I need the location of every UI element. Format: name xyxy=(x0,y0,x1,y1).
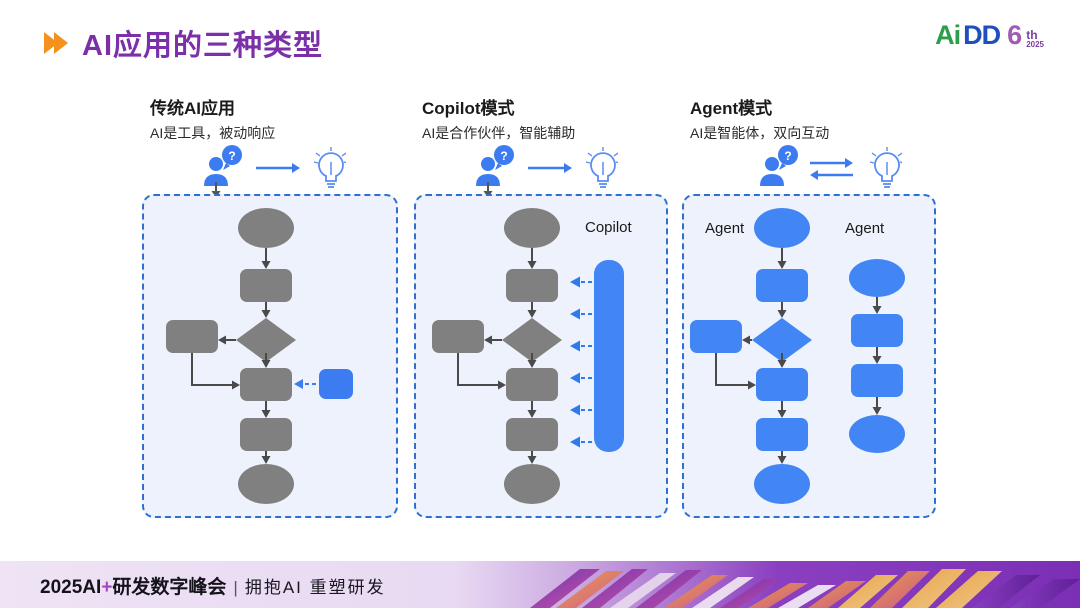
column-title: Agent模式 xyxy=(690,94,982,119)
footer-bar: 2025AI+研发数字峰会 | 拥抱AI 重塑研发 xyxy=(0,561,1080,608)
arrow-bidirectional-icon xyxy=(810,158,853,180)
footer-brand: 2025AI+研发数字峰会 | 拥抱AI 重塑研发 xyxy=(40,572,386,599)
flowchart-gray xyxy=(166,208,296,504)
double-triangle-icon xyxy=(44,32,68,54)
column-subtitle: AI是智能体，双向互动 xyxy=(690,123,982,143)
footer-brand-rest: 研发数字峰会 xyxy=(112,572,226,599)
logo-year-text: 2025 xyxy=(1026,41,1044,49)
copilot-label: Copilot xyxy=(585,219,632,236)
agent-label-right: Agent xyxy=(845,220,884,237)
column-subtitle: AI是合作伙伴，智能辅助 xyxy=(422,123,714,143)
panel-agent xyxy=(682,194,936,518)
svg-text:?: ? xyxy=(228,149,235,163)
column-title: Copilot模式 xyxy=(422,94,714,119)
column-title: 传统AI应用 xyxy=(150,94,442,119)
logo-six-text: 6 xyxy=(1007,22,1022,49)
copilot-assist-arrows xyxy=(579,282,592,442)
column-heading-copilot: Copilot模式 AI是合作伙伴，智能辅助 xyxy=(414,94,714,143)
flowchart-agent-primary xyxy=(690,208,812,504)
person-question-icon: ? xyxy=(476,145,514,186)
logo-dd-text: DD xyxy=(963,22,1000,49)
footer-tagline: 拥抱AI 重塑研发 xyxy=(245,573,386,598)
panel-copilot xyxy=(414,194,668,518)
panel-traditional-ai xyxy=(142,194,398,518)
agent-label-left: Agent xyxy=(705,220,744,237)
page-title-row: AI应用的三种类型 xyxy=(44,22,323,64)
footer-divider: | xyxy=(233,578,237,598)
column-heading-traditional: 传统AI应用 AI是工具，被动响应 xyxy=(142,94,442,143)
logo-ai-text: Ai xyxy=(935,22,960,49)
lightbulb-icon xyxy=(314,147,346,187)
footer-brand-year: 2025AI xyxy=(40,577,101,599)
person-question-icon: ? xyxy=(204,145,242,186)
page-title: AI应用的三种类型 xyxy=(82,22,323,64)
lightbulb-icon xyxy=(586,147,618,187)
copilot-bar xyxy=(594,260,624,452)
arrow-right-icon xyxy=(256,163,300,173)
ribbon-graphic xyxy=(520,561,1080,608)
lightbulb-icon xyxy=(870,147,902,187)
aidd-logo: Ai DD 6 th 2025 xyxy=(935,22,1044,49)
column-heading-agent: Agent模式 AI是智能体，双向互动 xyxy=(682,94,982,143)
arrow-right-icon xyxy=(528,163,572,173)
flowchart-gray xyxy=(432,208,562,504)
person-question-icon: ? xyxy=(760,145,798,186)
ai-tool-node xyxy=(294,369,353,399)
footer-brand-plus: + xyxy=(101,577,112,599)
column-subtitle: AI是工具，被动响应 xyxy=(150,123,442,143)
svg-text:?: ? xyxy=(500,149,507,163)
svg-text:?: ? xyxy=(784,149,791,163)
logo-ordinal: th 2025 xyxy=(1026,29,1044,49)
